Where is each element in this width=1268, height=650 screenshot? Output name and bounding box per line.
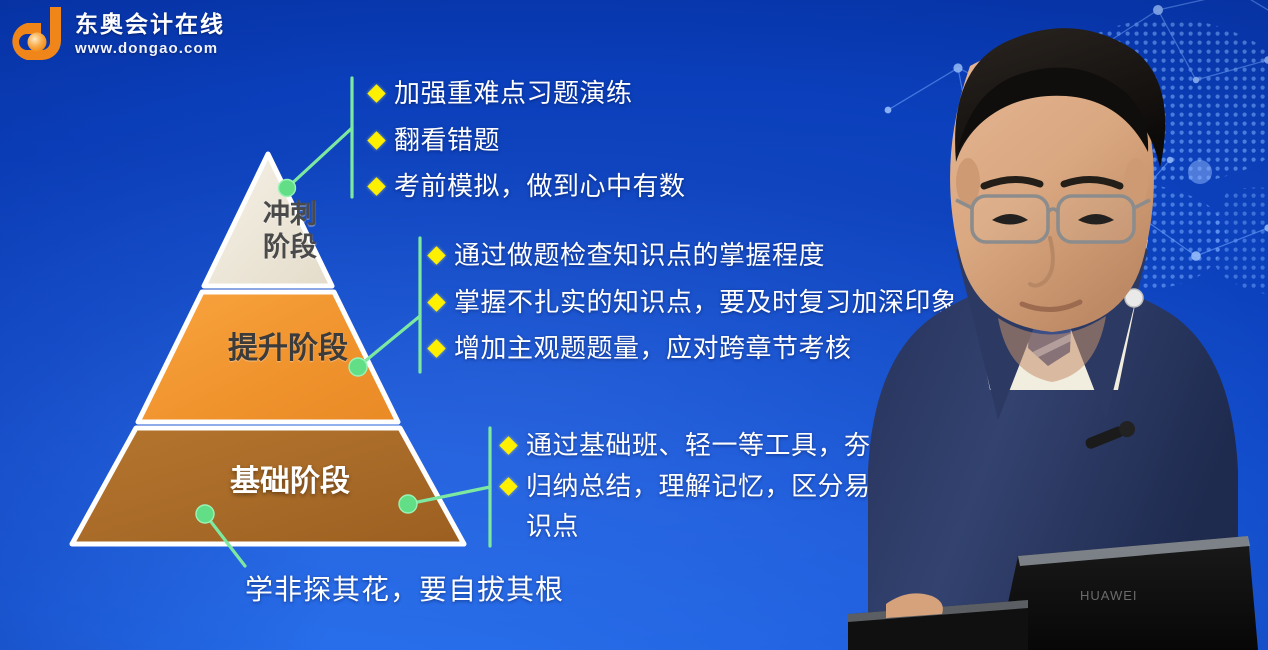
bullet-label: 翻看错题 — [394, 125, 500, 156]
diamond-bullet-icon — [367, 178, 385, 196]
bullet-label: 归纳总结，理解记忆，区分易错 — [526, 471, 897, 502]
diamond-bullet-icon — [367, 131, 385, 149]
bullet-label: 通过做题检查知识点的掌握程度 — [454, 240, 825, 271]
diamond-bullet-icon — [499, 477, 517, 495]
brand-logo: 东奥会计在线 www.dongao.com — [8, 4, 225, 62]
diamond-bullet-icon — [427, 246, 445, 264]
bullet-item: 归纳总结，理解记忆，区分易错 — [502, 471, 897, 502]
brand-url: www.dongao.com — [75, 41, 225, 56]
diamond-bullet-icon — [427, 293, 445, 311]
diamond-bullet-icon — [499, 436, 517, 454]
bullet-label: 考前模拟，做到心中有数 — [394, 171, 686, 202]
bullet-label: 增加主观题题量，应对跨章节考核 — [454, 333, 852, 364]
bullet-item-continuation: 识点 — [502, 511, 897, 542]
bullet-label: 加强重难点习题演练 — [394, 78, 633, 109]
presenter-video-overlay: HUAWEI — [848, 0, 1268, 650]
diamond-bullet-icon — [427, 340, 445, 358]
bullet-item: 考前模拟，做到心中有数 — [370, 171, 686, 202]
bullet-item: 加强重难点习题演练 — [370, 78, 686, 109]
diamond-bullet-icon — [367, 84, 385, 102]
bullet-item: 通过基础班、轻一等工具，夯实 — [502, 430, 897, 461]
video-frame: 东奥会计在线 www.dongao.com — [0, 0, 1268, 650]
dongao-logo-icon — [8, 4, 66, 62]
bullet-group-sprint: 加强重难点习题演练 翻看错题 考前模拟，做到心中有数 — [370, 78, 686, 202]
bullet-label: 识点 — [526, 511, 579, 542]
slide-caption: 学非探其花，要自拔其根 — [245, 568, 564, 608]
bullet-group-foundation: 通过基础班、轻一等工具，夯实 归纳总结，理解记忆，区分易错 识点 — [502, 430, 897, 552]
brand-name: 东奥会计在线 — [75, 13, 225, 36]
bullet-item: 翻看错题 — [370, 125, 686, 156]
bullet-label: 通过基础班、轻一等工具，夯实 — [526, 430, 897, 461]
svg-text:HUAWEI: HUAWEI — [1080, 588, 1138, 603]
